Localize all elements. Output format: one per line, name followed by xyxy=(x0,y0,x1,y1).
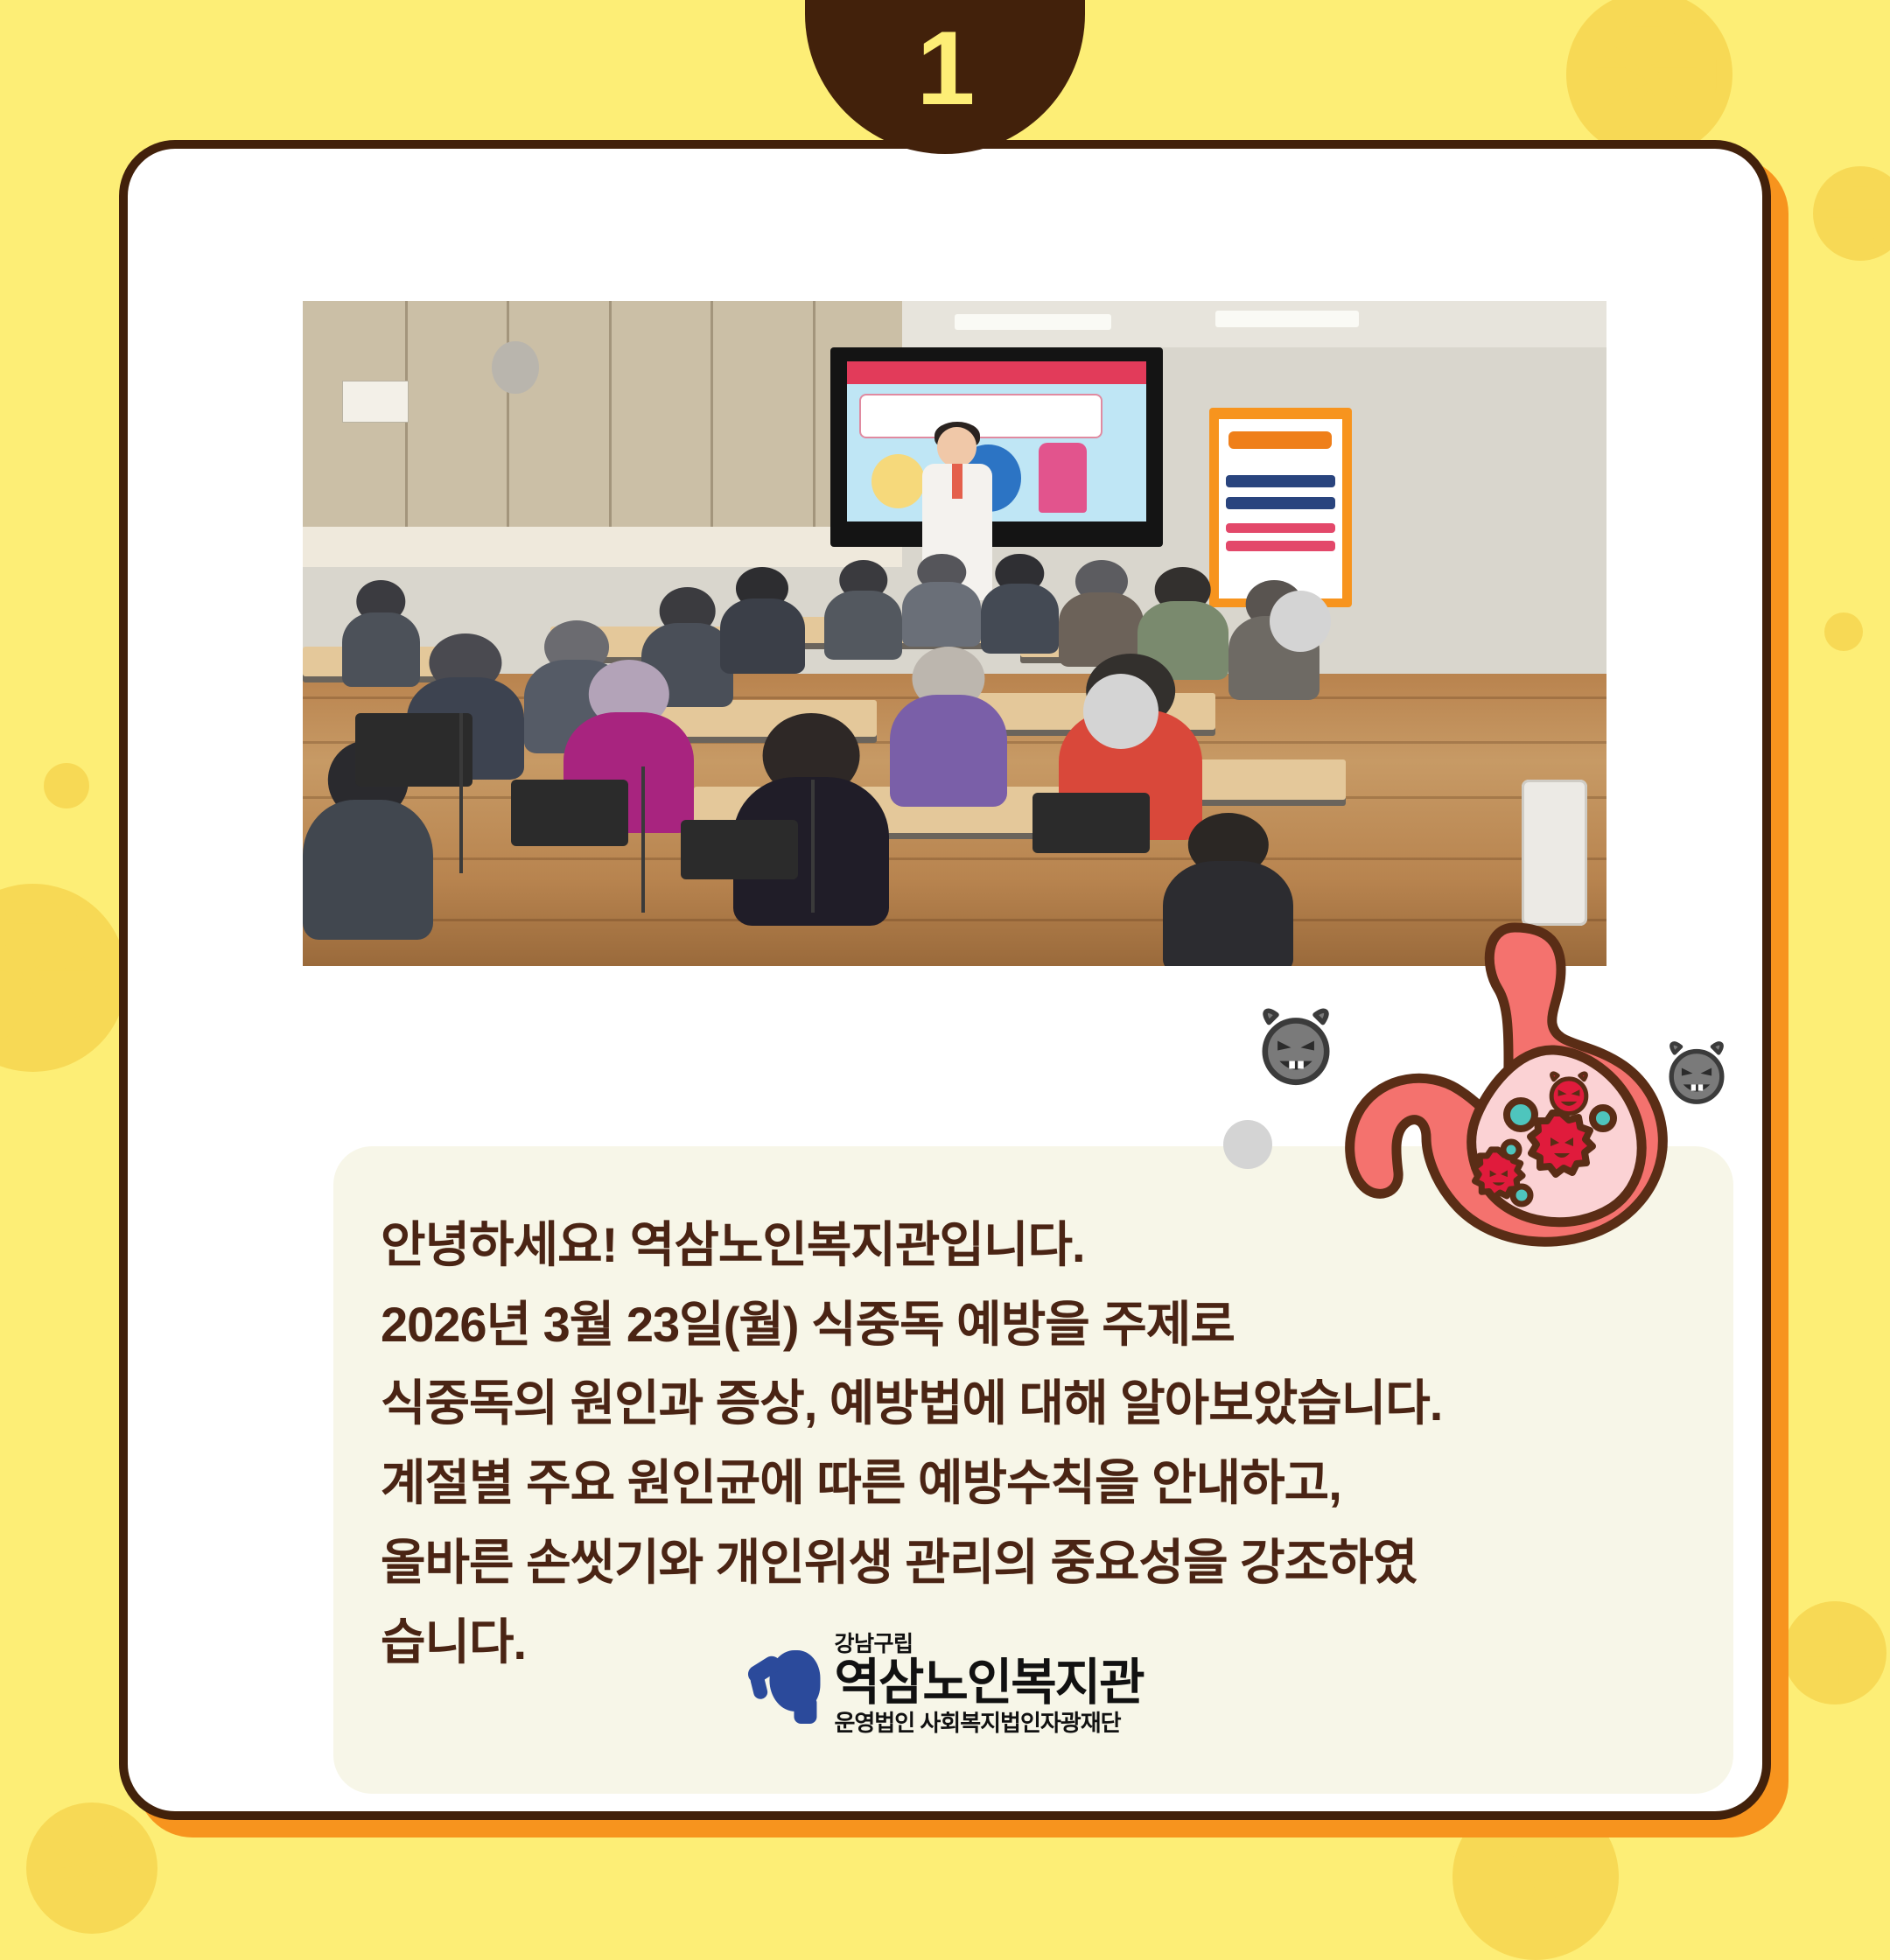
body-line: 2026년 3월 23일(월) 식중독 예방을 주제로 xyxy=(381,1285,1686,1365)
air-purifier xyxy=(1522,780,1587,926)
virus-left-large-icon xyxy=(0,884,127,1072)
body-line: 올바른 손씻기와 개인위생 관리의 중요성을 강조하였 xyxy=(381,1523,1686,1603)
virus-bottom-left-icon xyxy=(26,1802,157,1934)
devil-germ-left-icon xyxy=(1248,997,1344,1094)
projection-screen xyxy=(830,347,1163,547)
lecture-photo xyxy=(303,301,1606,966)
organization-logo: 강남구립 역삼노인복지관 운영법인 사회복지법인자광재단 xyxy=(746,1634,1143,1734)
logo-mark-icon xyxy=(746,1647,822,1722)
standing-banner xyxy=(1209,408,1353,607)
wall-fan-icon xyxy=(492,341,539,395)
logo-main-label: 역삼노인복지관 xyxy=(834,1658,1143,1708)
virus-right-small-icon xyxy=(1813,166,1890,261)
body-line: 식중독의 원인과 증상, 예방법에 대해 알아보았습니다. xyxy=(381,1364,1686,1444)
dot-right-icon xyxy=(1824,612,1863,651)
virus-bottom-right-icon xyxy=(1783,1601,1886,1704)
step-number-label: 1 xyxy=(917,16,974,154)
virus-gray-right-icon xyxy=(1270,591,1331,652)
dot-left-icon xyxy=(44,763,89,808)
logo-bottom-label: 운영법인 사회복지법인자광재단 xyxy=(834,1711,1143,1734)
virus-gray-small-icon xyxy=(1083,674,1158,749)
stomach-with-germs-icon xyxy=(1335,919,1703,1251)
logo-top-label: 강남구립 xyxy=(834,1634,1143,1655)
virus-gray-tiny-icon xyxy=(1223,1120,1272,1169)
virus-top-right-large-icon xyxy=(1566,0,1732,157)
body-line: 계절별 주요 원인균에 따른 예방수칙을 안내하고, xyxy=(381,1444,1686,1523)
main-card: 안녕하세요! 역삼노인복지관입니다. 2026년 3월 23일(월) 식중독 예… xyxy=(119,140,1771,1820)
step-number-badge: 1 xyxy=(805,0,1085,154)
